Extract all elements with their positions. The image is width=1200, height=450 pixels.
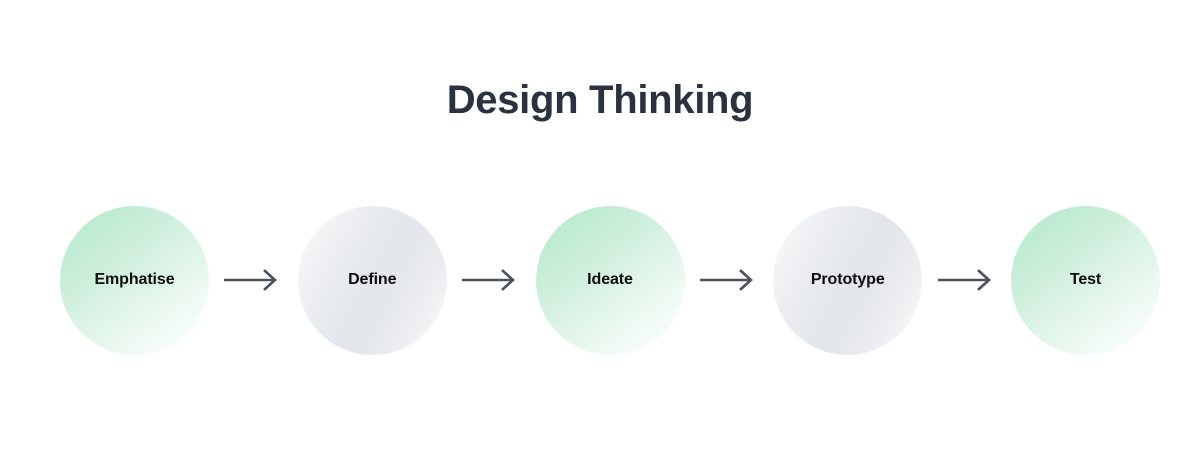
arrow-right-icon xyxy=(462,268,520,292)
flow-step-label: Emphatise xyxy=(94,270,174,290)
flow-step-emphatise[interactable]: Emphatise xyxy=(60,206,209,355)
page-title: Design Thinking xyxy=(0,72,1200,128)
flow-step-ideate[interactable]: Ideate xyxy=(536,206,685,355)
arrow-right-icon xyxy=(700,268,758,292)
design-thinking-diagram: Design Thinking Emphatise Define xyxy=(0,0,1200,450)
flow-connector-2 xyxy=(462,267,520,293)
arrow-right-icon xyxy=(224,268,282,292)
flow-connector-3 xyxy=(700,267,758,293)
flow-step-label: Ideate xyxy=(587,270,633,290)
flow-step-test[interactable]: Test xyxy=(1011,206,1160,355)
arrow-right-icon xyxy=(938,268,996,292)
flow-step-label: Define xyxy=(348,270,396,290)
flow-connector-1 xyxy=(224,267,282,293)
flow-connector-4 xyxy=(938,267,996,293)
flow-step-define[interactable]: Define xyxy=(298,206,447,355)
flow-step-label: Test xyxy=(1070,270,1101,290)
process-flow: Emphatise Define Ideate xyxy=(60,205,1160,355)
flow-step-prototype[interactable]: Prototype xyxy=(773,206,922,355)
flow-step-label: Prototype xyxy=(811,270,885,290)
